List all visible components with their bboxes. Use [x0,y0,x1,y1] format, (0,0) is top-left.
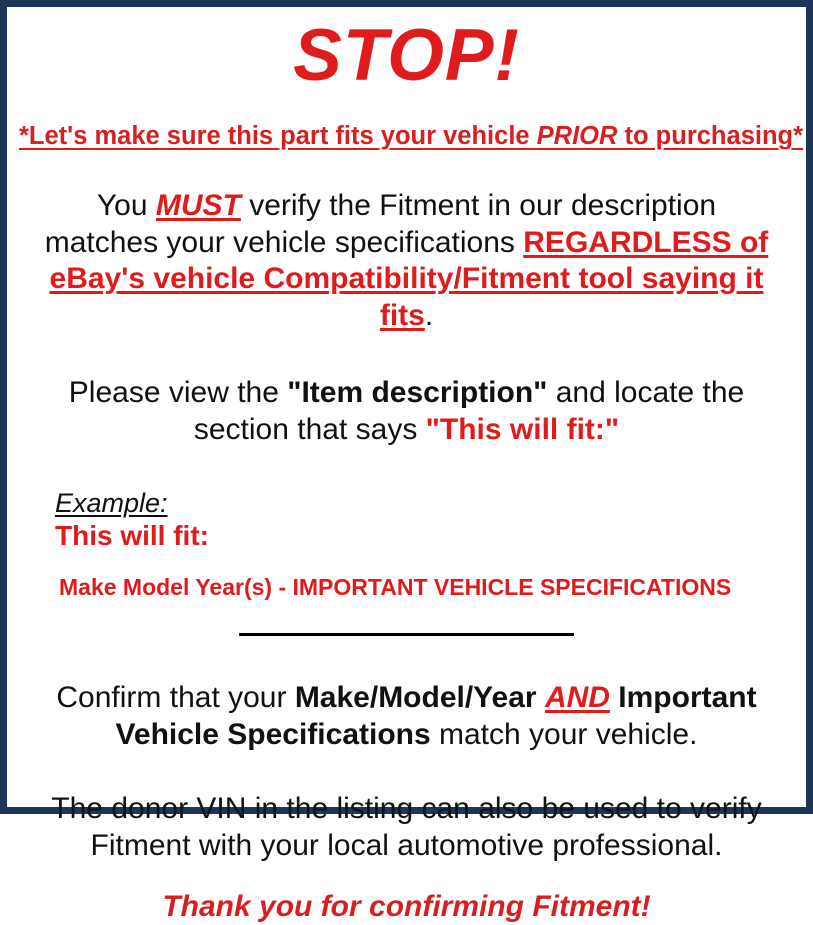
confirm-segment-2 [537,681,545,714]
subtitle-emphasis-prior: PRIOR [537,122,618,150]
example-spec-line: Make Model Year(s) - IMPORTANT VEHICLE S… [55,574,794,602]
emphasis-must: MUST [156,189,241,222]
closing-thank-you: Thank you for confirming Fitment! [19,890,794,925]
paragraph-must-verify: You MUST verify the Fitment in our descr… [19,188,794,334]
confirm-segment-1: Confirm that your [56,681,294,714]
example-label: Example: [55,489,168,519]
subtitle-text-before: *Let's make sure this part fits your veh… [19,122,537,150]
divider-wrap [19,626,794,644]
horizontal-divider [239,633,574,636]
example-fit-heading: This will fit: [55,520,794,552]
page-title: STOP! [19,19,794,92]
emphasis-make-model-year: Make/Model/Year [295,681,537,714]
fitment-notice-card: STOP! *Let's make sure this part fits yo… [0,0,813,814]
must-segment-3: . [425,299,433,332]
emphasis-item-description: "Item description" [287,376,547,409]
paragraph-confirm-match: Confirm that your Make/Model/Year AND Im… [19,680,794,753]
paragraph-view-description: Please view the "Item description" and l… [19,375,794,448]
paragraph-donor-vin: The donor VIN in the listing can also be… [19,791,794,864]
must-segment-1: You [97,189,156,222]
notice-subtitle: *Let's make sure this part fits your veh… [19,122,794,150]
subtitle-text-after: to purchasing* [617,122,803,150]
emphasis-this-will-fit: "This will fit:" [426,413,619,446]
emphasis-and: AND [545,681,610,714]
view-segment-1: Please view the [69,376,287,409]
confirm-segment-4: match your vehicle. [431,718,698,751]
example-block: Example: This will fit: Make Model Year(… [19,489,794,602]
